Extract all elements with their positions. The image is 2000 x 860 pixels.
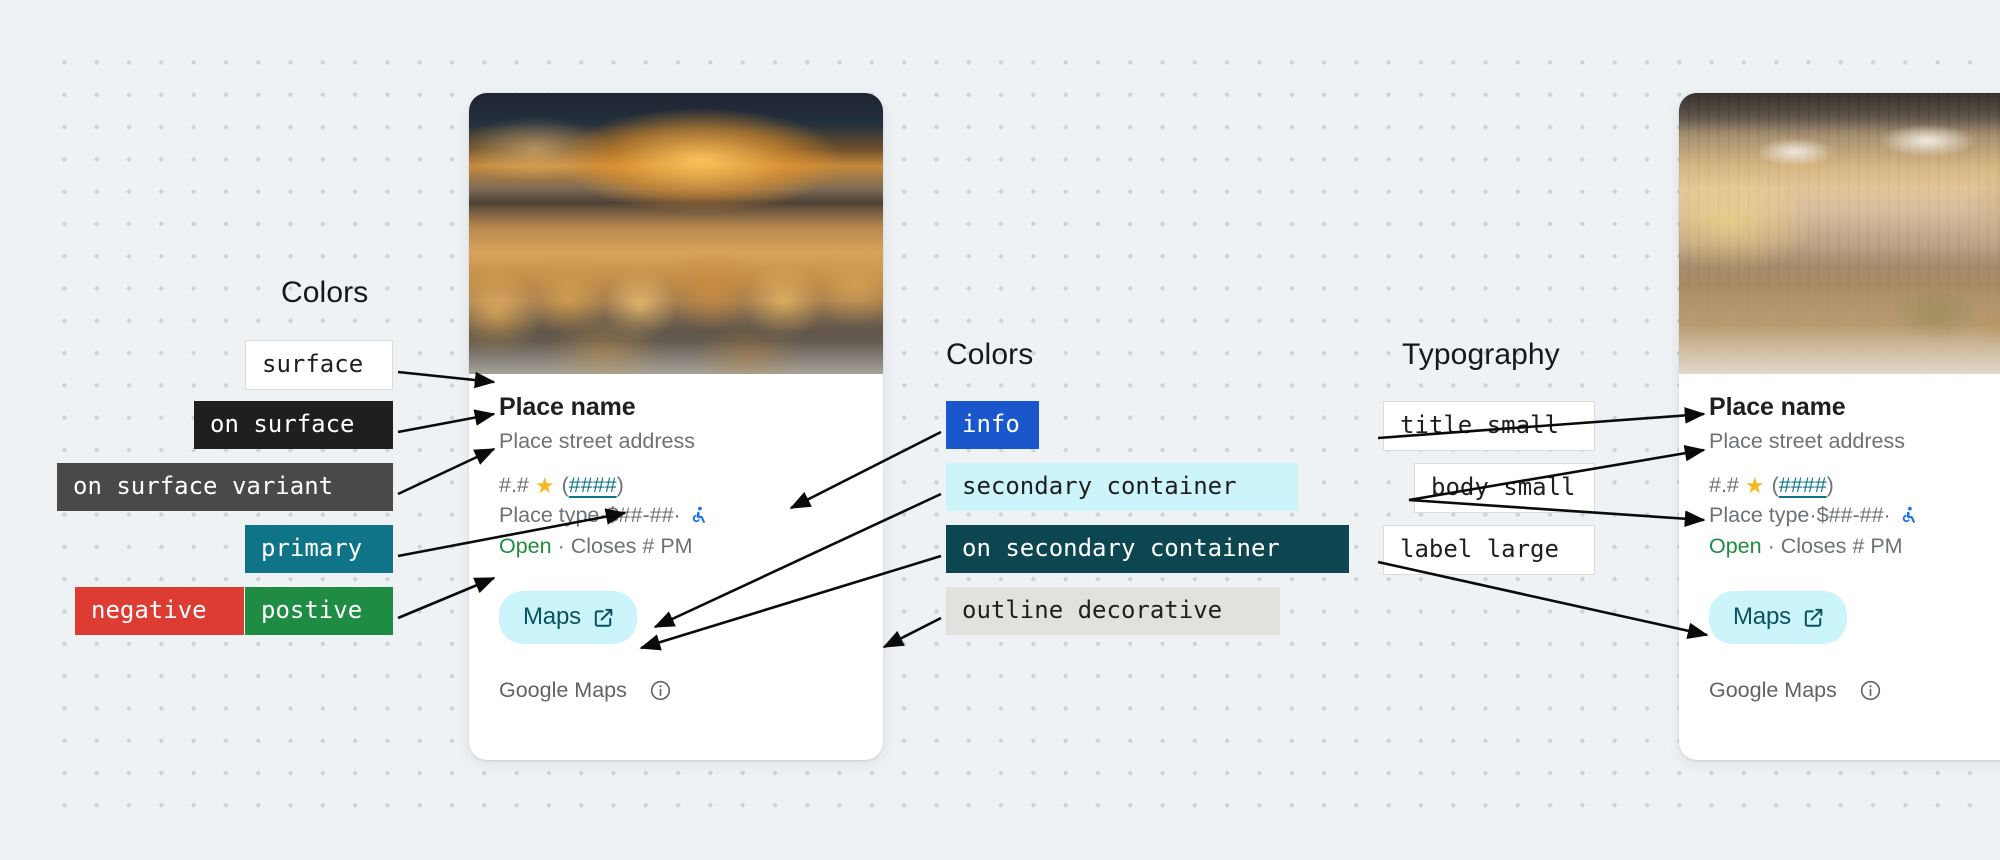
place-card-center: Place name Place street address #.# ★ (#… <box>469 93 883 760</box>
color-chip-postive[interactable]: postive <box>245 587 393 635</box>
place-rating-row: #.# ★ (####) <box>1709 472 2000 501</box>
color-chip-label: info <box>962 412 1020 436</box>
maps-button[interactable]: Maps <box>499 591 637 644</box>
google-maps-attribution: Google Maps <box>499 678 627 703</box>
place-price-range: $##-## <box>607 501 674 530</box>
place-type: Place type <box>499 501 599 530</box>
color-chip-on-surface[interactable]: on surface <box>194 401 393 449</box>
color-chip-label: on secondary container <box>962 536 1280 560</box>
meta-separator-1: · <box>1809 501 1816 530</box>
canvas-edge-left <box>0 0 42 860</box>
wheelchair-accessible-icon <box>1900 505 1919 526</box>
color-chip-label: surface <box>262 352 363 376</box>
type-chip-label-large[interactable]: label large <box>1383 525 1595 575</box>
paren-close: ) <box>1827 472 1834 500</box>
place-name: Place name <box>499 392 853 423</box>
place-meta-row: Place type · $##-## · <box>1709 501 2000 530</box>
type-chip-label: body small <box>1431 475 1576 499</box>
paren-open: ( <box>562 472 569 500</box>
canvas-edge-top <box>0 0 2000 42</box>
color-chip-primary[interactable]: primary <box>245 525 393 573</box>
open-status: Open <box>499 534 552 558</box>
place-photo-cafe <box>1679 93 2000 374</box>
color-chip-label: negative <box>91 598 207 622</box>
wheelchair-accessible-icon <box>690 505 709 526</box>
place-address: Place street address <box>499 427 853 456</box>
place-address: Place street address <box>1709 427 2000 456</box>
info-circle-icon[interactable] <box>649 679 672 702</box>
heading-typography: Typography <box>1402 338 1560 372</box>
color-chip-label: secondary container <box>962 474 1237 498</box>
paren-close: ) <box>617 472 624 500</box>
closing-hours: · Closes # PM <box>552 534 693 558</box>
place-card-body: Place name Place street address #.# ★ (#… <box>1679 374 2000 729</box>
google-maps-attribution: Google Maps <box>1709 678 1837 703</box>
place-card-footer: Google Maps <box>1709 678 2000 729</box>
open-status: Open <box>1709 534 1762 558</box>
paren-open: ( <box>1772 472 1779 500</box>
place-card-right: Place name Place street address #.# ★ (#… <box>1679 93 2000 760</box>
type-chip-body-small[interactable]: body small <box>1414 463 1595 513</box>
place-type: Place type <box>1709 501 1809 530</box>
place-price-range: $##-## <box>1817 501 1884 530</box>
color-chip-label: on surface <box>210 412 355 436</box>
color-chip-outline-decorative[interactable]: outline decorative <box>946 587 1280 635</box>
rating-value: #.# <box>499 472 529 500</box>
color-chip-surface[interactable]: surface <box>245 340 393 390</box>
heading-colors-left: Colors <box>281 276 368 310</box>
place-card-footer: Google Maps <box>499 678 853 729</box>
color-chip-on-surface-variant[interactable]: on surface variant <box>57 463 393 511</box>
closing-hours: · Closes # PM <box>1762 534 1903 558</box>
color-chip-negative[interactable]: negative <box>75 587 244 635</box>
meta-separator-2: · <box>1884 501 1891 530</box>
maps-button-label: Maps <box>1733 603 1791 631</box>
color-chip-secondary-container[interactable]: secondary container <box>946 463 1298 511</box>
color-chip-label: on surface variant <box>73 474 333 498</box>
star-icon: ★ <box>1745 472 1765 501</box>
external-link-icon <box>1802 606 1825 629</box>
color-chip-on-secondary-container[interactable]: on secondary container <box>946 525 1349 573</box>
color-chip-label: primary <box>261 536 362 560</box>
place-rating-row: #.# ★ (####) <box>499 472 853 501</box>
color-chip-label: postive <box>261 598 362 622</box>
place-name: Place name <box>1709 392 2000 423</box>
rating-value: #.# <box>1709 472 1739 500</box>
place-hours-row: Open · Closes # PM <box>1709 532 2000 561</box>
type-chip-label: title small <box>1400 413 1559 437</box>
maps-button[interactable]: Maps <box>1709 591 1847 644</box>
place-meta-row: Place type · $##-## · <box>499 501 853 530</box>
canvas-edge-bottom <box>0 812 2000 860</box>
type-chip-label: label large <box>1400 537 1559 561</box>
meta-separator-1: · <box>599 501 606 530</box>
color-chip-label: outline decorative <box>962 598 1222 622</box>
star-icon: ★ <box>535 472 555 501</box>
rating-count-link[interactable]: #### <box>569 472 617 500</box>
design-annotation-canvas: Colors Colors Typography surface on surf… <box>0 0 2000 860</box>
maps-button-label: Maps <box>523 603 581 631</box>
place-photo-bakery <box>469 93 883 374</box>
place-hours-row: Open · Closes # PM <box>499 532 853 561</box>
info-circle-icon[interactable] <box>1859 679 1882 702</box>
place-card-body: Place name Place street address #.# ★ (#… <box>469 374 883 729</box>
external-link-icon <box>592 606 615 629</box>
color-chip-info[interactable]: info <box>946 401 1039 449</box>
type-chip-title-small[interactable]: title small <box>1383 401 1595 451</box>
meta-separator-2: · <box>674 501 681 530</box>
rating-count-link[interactable]: #### <box>1779 472 1827 500</box>
arrow-outline-decorative-to-card-edge <box>884 618 941 647</box>
heading-colors-mid: Colors <box>946 338 1033 372</box>
